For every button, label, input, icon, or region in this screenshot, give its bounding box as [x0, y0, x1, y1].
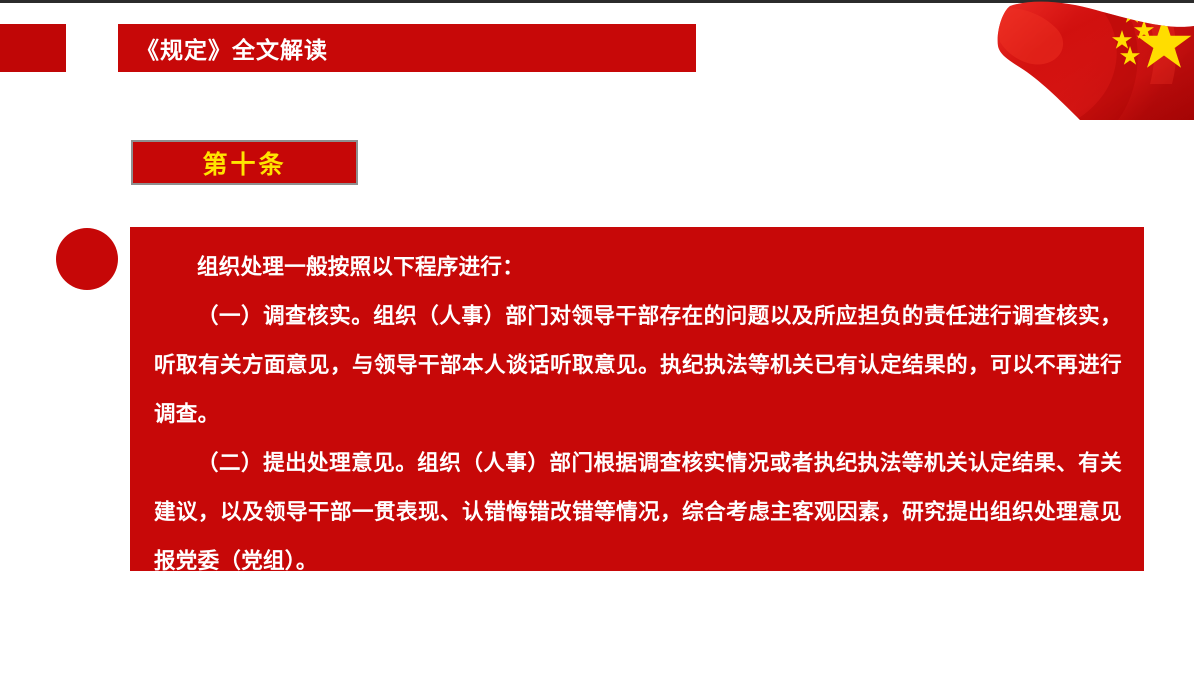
bullet-dot-icon: [56, 228, 118, 290]
article-paragraph-item-2: （二）提出处理意见。组织（人事）部门根据调查核实情况或者执纪执法等机关认定结果、…: [154, 439, 1122, 586]
chinese-flag-icon: [972, 0, 1194, 120]
article-number-label: 第十条: [202, 145, 286, 181]
header-title-bar: 《规定》全文解读: [118, 24, 696, 72]
page-title: 《规定》全文解读: [136, 31, 328, 65]
article-body-panel: 组织处理一般按照以下程序进行： （一）调查核实。组织（人事）部门对领导干部存在的…: [130, 227, 1144, 571]
flag-stars: [1112, 4, 1191, 68]
top-rule-divider: [0, 0, 1194, 3]
article-paragraph-intro: 组织处理一般按照以下程序进行：: [154, 243, 1122, 292]
slide-canvas: 《规定》全文解读: [0, 0, 1194, 673]
article-number-badge: 第十条: [131, 140, 358, 185]
header-accent-tab: [0, 24, 66, 72]
article-paragraph-item-1: （一）调查核实。组织（人事）部门对领导干部存在的问题以及所应担负的责任进行调查核…: [154, 292, 1122, 439]
